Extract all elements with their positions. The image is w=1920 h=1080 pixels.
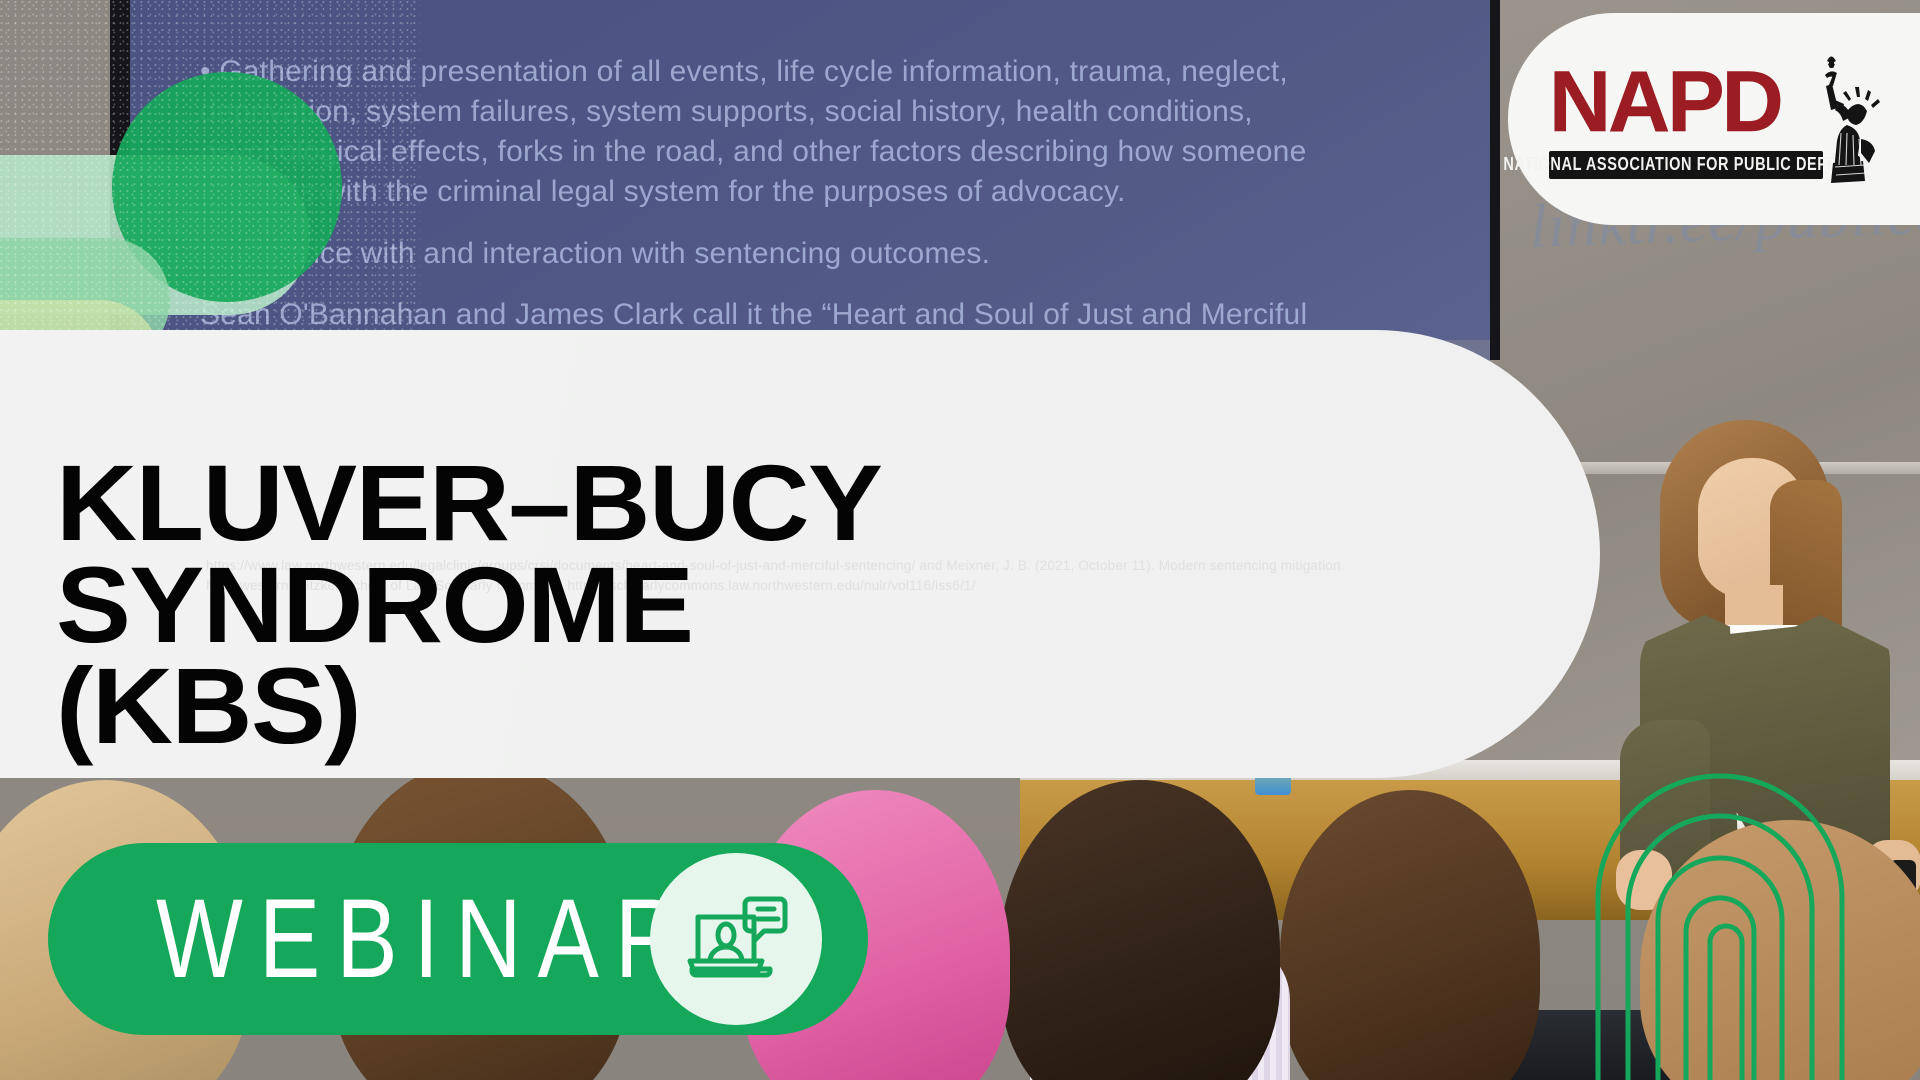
page-title: KLUVER–BUCY SYNDROME (KBS) bbox=[56, 452, 1512, 757]
webinar-badge[interactable]: WEBINAR bbox=[48, 843, 868, 1035]
webinar-promo-graphic: NAPD linktr.ee/publicdefen Gathering and… bbox=[0, 0, 1920, 1080]
arch-decoration bbox=[1590, 730, 1920, 1080]
webinar-label: WEBINAR bbox=[156, 883, 697, 995]
webinar-laptop-icon bbox=[680, 887, 792, 991]
statue-of-liberty-icon bbox=[1777, 41, 1885, 183]
webinar-icon-circle bbox=[650, 853, 822, 1025]
napd-logo-card: NAPD NATIONAL ASSOCIATION FOR PUBLIC DEF… bbox=[1508, 13, 1920, 225]
title-line-1: KLUVER–BUCY SYNDROME bbox=[56, 442, 879, 665]
watercolor-decoration bbox=[0, 0, 420, 360]
napd-wordmark: NAPD bbox=[1549, 53, 1781, 152]
title-line-2: (KBS) bbox=[56, 655, 1512, 757]
